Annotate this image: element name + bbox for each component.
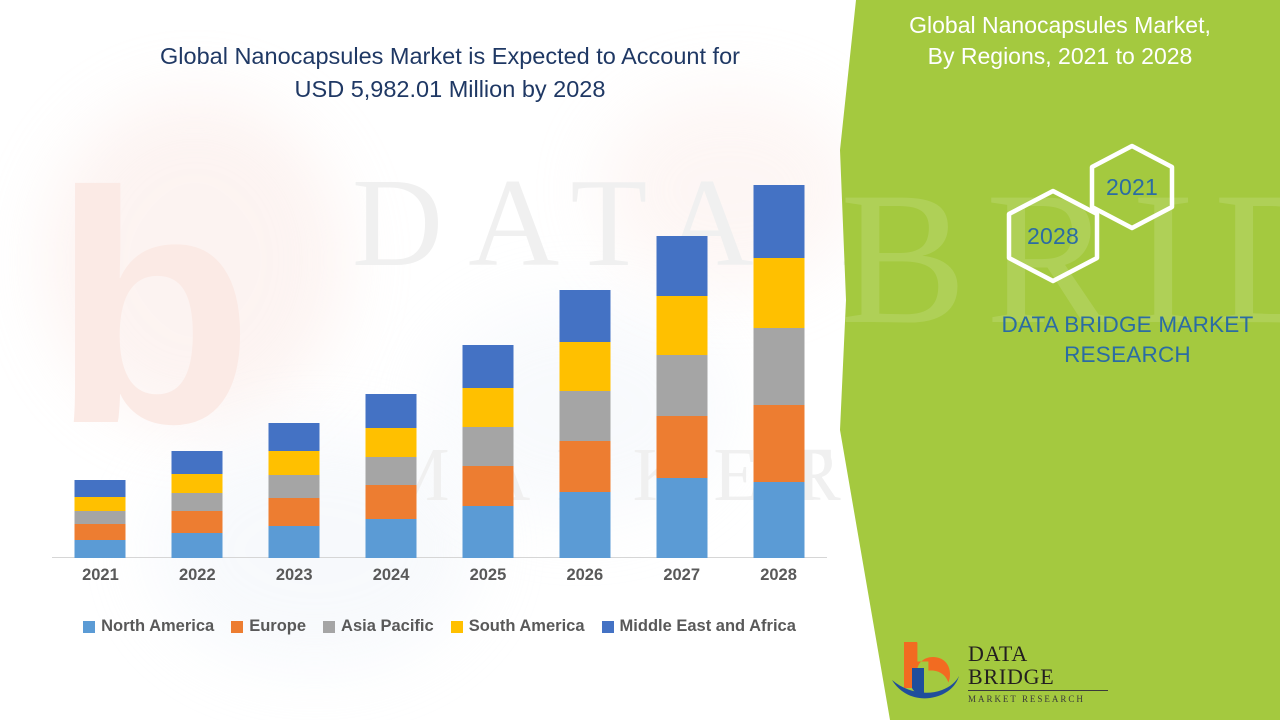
bar-segment [366, 519, 417, 558]
bar-segment [75, 480, 126, 497]
x-axis-label-2023: 2023 [246, 566, 343, 585]
hexagon-start-year-label: 2021 [1106, 174, 1158, 201]
bar-segment [269, 451, 320, 475]
bar-segment [559, 391, 610, 441]
legend-item[interactable]: Europe [231, 617, 306, 636]
bar-segment [753, 405, 804, 482]
bar-segment [269, 526, 320, 558]
stacked-bar-2026[interactable] [559, 290, 610, 558]
bar-slot [149, 120, 246, 558]
x-axis-label-2024: 2024 [343, 566, 440, 585]
bar-segment [269, 423, 320, 451]
stacked-bar-2028[interactable] [753, 185, 804, 558]
bar-segment [462, 506, 513, 558]
bar-segment [559, 342, 610, 391]
bar-slot [246, 120, 343, 558]
infographic-canvas: b DATA BRIDGE MARKET RESEARCH Global Nan… [0, 0, 1280, 720]
chart-title: Global Nanocapsules Market is Expected t… [110, 40, 790, 107]
bar-slot [440, 120, 537, 558]
stacked-bar-2022[interactable] [172, 451, 223, 558]
bar-segment [75, 540, 126, 558]
stacked-bar-2025[interactable] [462, 345, 513, 558]
legend-item[interactable]: South America [451, 617, 585, 636]
chart-title-line-1: Global Nanocapsules Market is Expected t… [110, 40, 790, 73]
bar-slot [633, 120, 730, 558]
panel-title-line-1: Global Nanocapsules Market, [860, 10, 1260, 41]
legend-swatch-icon [83, 621, 95, 633]
stacked-bar-group [52, 120, 827, 558]
hexagon-end-year-label: 2028 [1027, 223, 1079, 250]
bar-segment [172, 511, 223, 533]
logo-mark-icon [890, 638, 962, 700]
bar-segment [559, 290, 610, 342]
bar-segment [753, 185, 804, 258]
stacked-bar-2024[interactable] [366, 394, 417, 558]
bar-segment [559, 441, 610, 492]
bar-segment [753, 328, 804, 405]
bar-slot [343, 120, 440, 558]
bar-segment [656, 478, 707, 558]
panel-brand-line-2: RESEARCH [960, 340, 1280, 370]
legend-swatch-icon [602, 621, 614, 633]
bar-segment [656, 296, 707, 355]
legend-label: Europe [249, 617, 306, 636]
bar-segment [656, 355, 707, 416]
chart-legend: North AmericaEuropeAsia PacificSouth Ame… [52, 617, 827, 636]
company-logo: DATA BRIDGE MARKET RESEARCH [890, 638, 1105, 700]
bar-segment [366, 394, 417, 428]
x-axis-label-2021: 2021 [52, 566, 149, 585]
logo-name-line-2: MARKET RESEARCH [968, 694, 1108, 704]
bar-segment [75, 511, 126, 524]
bar-segment [269, 475, 320, 498]
legend-item[interactable]: Middle East and Africa [602, 617, 796, 636]
legend-swatch-icon [231, 621, 243, 633]
bar-segment [366, 428, 417, 457]
stacked-bar-2027[interactable] [656, 236, 707, 558]
x-axis-label-2022: 2022 [149, 566, 246, 585]
bar-segment [172, 533, 223, 558]
bar-segment [656, 236, 707, 296]
panel-title-line-2: By Regions, 2021 to 2028 [860, 41, 1260, 72]
bar-segment [559, 492, 610, 558]
legend-swatch-icon [451, 621, 463, 633]
legend-label: Asia Pacific [341, 617, 434, 636]
bar-segment [172, 493, 223, 511]
bar-segment [753, 258, 804, 328]
panel-brand-line-1: DATA BRIDGE MARKET [960, 310, 1280, 340]
logo-wordmark: DATA BRIDGE MARKET RESEARCH [968, 642, 1108, 704]
x-axis-label-2028: 2028 [730, 566, 827, 585]
bar-segment [753, 482, 804, 558]
x-axis-label-2025: 2025 [440, 566, 537, 585]
bar-segment [366, 485, 417, 519]
bar-segment [656, 416, 707, 478]
stacked-bar-2021[interactable] [75, 480, 126, 558]
logo-name-line-1: DATA BRIDGE [968, 642, 1108, 691]
legend-item[interactable]: North America [83, 617, 214, 636]
bar-segment [172, 474, 223, 493]
legend-item[interactable]: Asia Pacific [323, 617, 434, 636]
legend-label: North America [101, 617, 214, 636]
x-axis-label-2027: 2027 [633, 566, 730, 585]
bar-segment [75, 497, 126, 511]
bar-segment [462, 466, 513, 506]
bar-segment [269, 498, 320, 526]
bar-segment [172, 451, 223, 474]
panel-brand-text: DATA BRIDGE MARKET RESEARCH [960, 310, 1280, 371]
bar-segment [75, 524, 126, 540]
chart-title-line-2: USD 5,982.01 Million by 2028 [110, 73, 790, 106]
bar-slot [536, 120, 633, 558]
legend-swatch-icon [323, 621, 335, 633]
legend-label: South America [469, 617, 585, 636]
bar-slot [730, 120, 827, 558]
bar-segment [462, 345, 513, 388]
hexagon-start-year: 2021 [1087, 143, 1177, 231]
stacked-bar-2023[interactable] [269, 423, 320, 558]
bar-segment [462, 427, 513, 466]
bar-segment [366, 457, 417, 485]
panel-title: Global Nanocapsules Market, By Regions, … [860, 10, 1260, 72]
x-axis-labels: 20212022202320242025202620272028 [52, 566, 827, 585]
x-axis-label-2026: 2026 [536, 566, 633, 585]
bar-slot [52, 120, 149, 558]
bar-segment [462, 388, 513, 427]
legend-label: Middle East and Africa [620, 617, 796, 636]
